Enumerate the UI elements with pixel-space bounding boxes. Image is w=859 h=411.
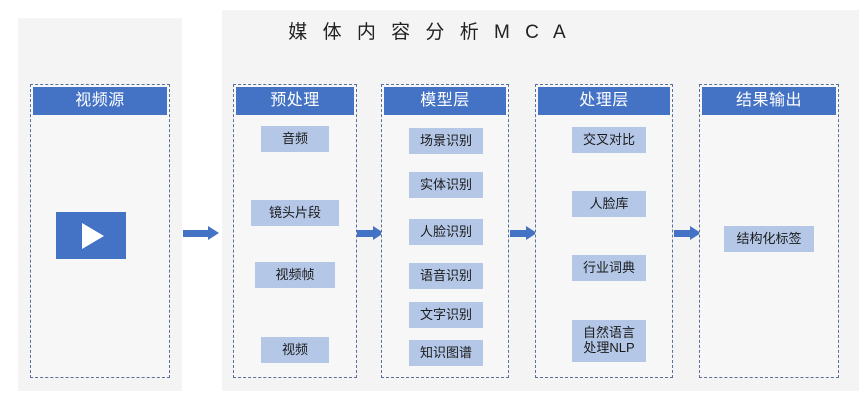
- chip-preprocess-audio[interactable]: 音频: [261, 126, 329, 152]
- chip-processing-nlp[interactable]: 自然语言 处理NLP: [572, 320, 646, 362]
- diagram-canvas: 媒 体 内 容 分 析 M C A 视频源 预处理 音频 镜头片段 视频帧 视频…: [0, 0, 859, 411]
- chip-processing-cross-compare[interactable]: 交叉对比: [572, 127, 646, 153]
- chip-preprocess-video-frame[interactable]: 视频帧: [255, 262, 335, 288]
- video-play-icon: [56, 212, 126, 259]
- arrow-video-source-to-preprocess: [183, 226, 219, 240]
- page-title: 媒 体 内 容 分 析 M C A: [0, 17, 859, 44]
- chip-model-speech-recognition[interactable]: 语音识别: [409, 263, 483, 289]
- chip-model-scene-recognition[interactable]: 场景识别: [409, 128, 483, 154]
- arrow-processing-layer-to-result-output: [674, 226, 700, 240]
- chip-model-text-recognition[interactable]: 文字识别: [409, 302, 483, 328]
- play-triangle-icon: [82, 223, 104, 249]
- chip-model-entity-recognition[interactable]: 实体识别: [409, 172, 483, 198]
- chip-result-structured-tags[interactable]: 结构化标签: [724, 226, 814, 252]
- chip-processing-face-library[interactable]: 人脸库: [572, 191, 646, 217]
- chip-preprocess-shot-segment[interactable]: 镜头片段: [251, 200, 339, 226]
- column-header-processing-layer: 处理层: [538, 87, 670, 115]
- column-header-model-layer: 模型层: [384, 87, 506, 115]
- chip-processing-industry-dictionary[interactable]: 行业词典: [572, 255, 646, 281]
- column-header-result-output: 结果输出: [702, 87, 836, 115]
- arrow-model-layer-to-processing-layer: [510, 226, 536, 240]
- chip-model-knowledge-graph[interactable]: 知识图谱: [409, 340, 483, 366]
- chip-preprocess-video[interactable]: 视频: [261, 337, 329, 363]
- chip-model-face-recognition[interactable]: 人脸识别: [409, 219, 483, 245]
- column-header-preprocess: 预处理: [236, 87, 354, 115]
- column-header-video-source: 视频源: [33, 87, 167, 115]
- arrow-preprocess-to-model-layer: [357, 226, 383, 240]
